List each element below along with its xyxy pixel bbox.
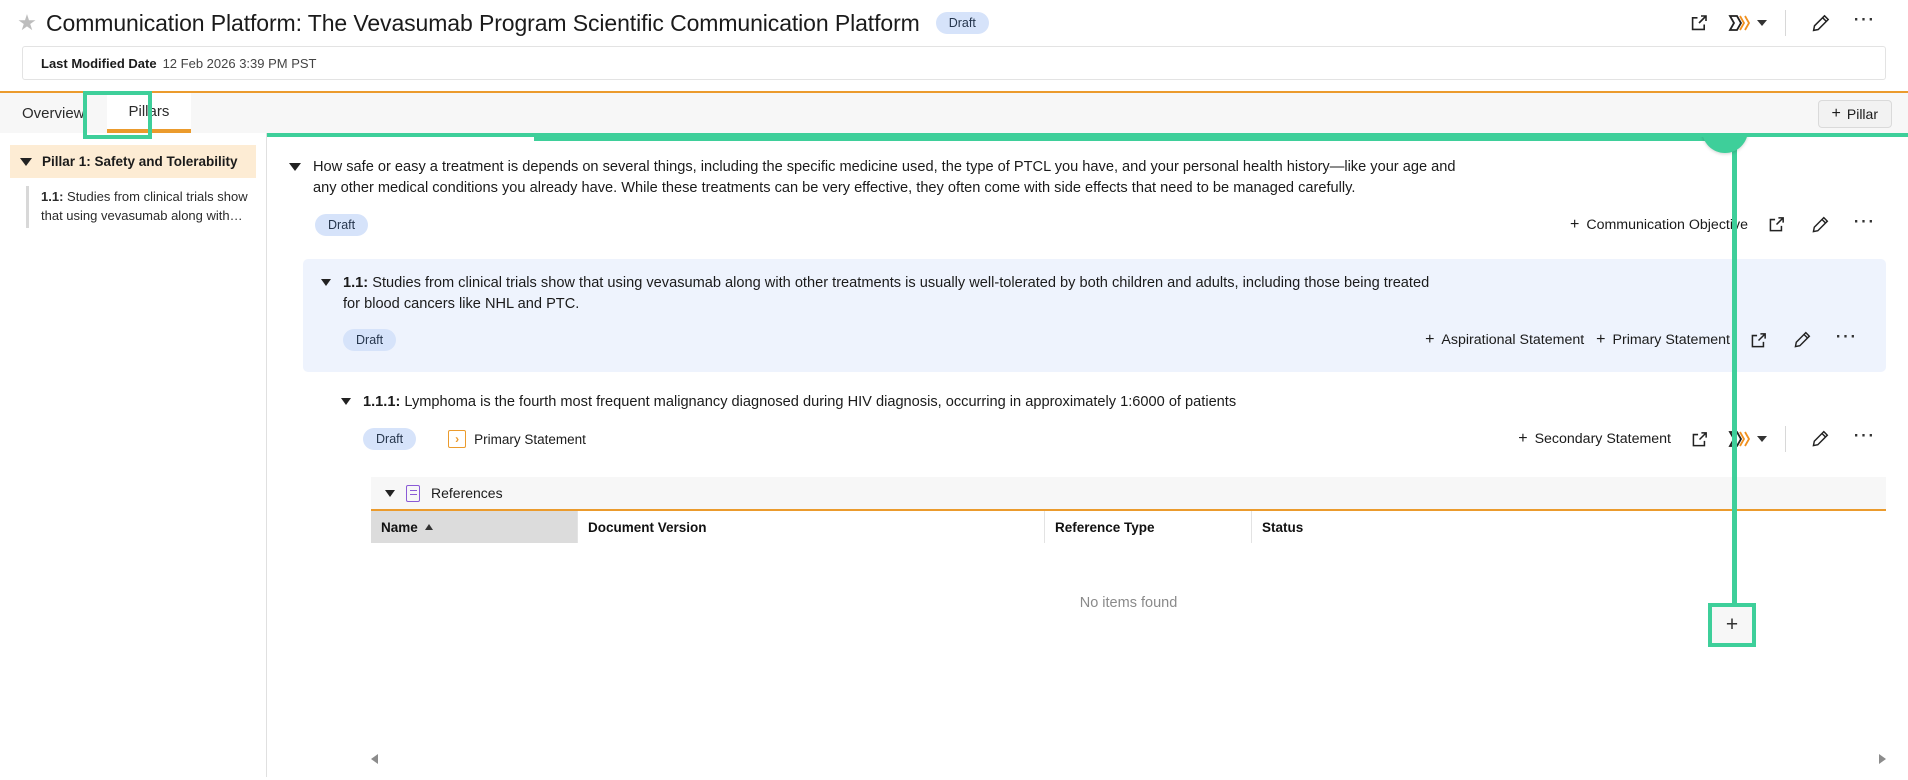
statement-1-1-status-badge: Draft xyxy=(343,329,396,351)
last-modified-label: Last Modified Date xyxy=(41,56,157,71)
statement-1-1-1-text-row: 1.1.1: Lymphoma is the fourth most frequ… xyxy=(341,386,1886,413)
column-header-document-version[interactable]: Document Version xyxy=(578,511,1045,543)
statement-1-1-number: 1.1: xyxy=(343,275,368,291)
header-actions: ⋯ xyxy=(1677,3,1886,43)
external-link-icon[interactable] xyxy=(1754,205,1798,245)
pillars-sidebar: Pillar 1: Safety and Tolerability 1.1: S… xyxy=(0,133,267,777)
chevron-down-icon[interactable] xyxy=(289,163,301,171)
pencil-icon[interactable] xyxy=(1798,205,1842,245)
primary-statement-type-badge[interactable]: › Primary Statement xyxy=(448,430,586,448)
scroll-left-icon[interactable] xyxy=(371,754,378,764)
pillars-main-content: How safe or easy a treatment is depends … xyxy=(267,133,1908,777)
primary-statement-type-label: Primary Statement xyxy=(474,432,586,447)
chevron-down-icon[interactable] xyxy=(1757,20,1767,26)
add-pillar-button[interactable]: + Pillar xyxy=(1818,100,1892,128)
tab-overview[interactable]: Overview xyxy=(0,93,107,133)
column-header-status[interactable]: Status xyxy=(1252,511,1886,543)
statement-1-1-1-actions: Draft › Primary Statement + Secondary St… xyxy=(341,419,1886,459)
statement-1-1-1-status-group: Draft › Primary Statement xyxy=(341,428,586,450)
scroll-right-icon[interactable] xyxy=(1879,754,1886,764)
statement-1-1-action-buttons: + Aspirational Statement + Primary State… xyxy=(1419,320,1868,360)
add-secondary-statement-button[interactable]: + Secondary Statement xyxy=(1512,428,1677,450)
divider xyxy=(1785,426,1786,452)
sidebar-sub-text: Studies from clinical trials show that u… xyxy=(41,189,248,223)
statement-1-1-text: 1.1: Studies from clinical trials show t… xyxy=(343,273,1448,315)
objective-text-row: How safe or easy a treatment is depends … xyxy=(289,151,1908,199)
external-link-icon[interactable] xyxy=(1677,3,1721,43)
star-icon[interactable]: ★ xyxy=(14,10,40,36)
sort-ascending-icon xyxy=(425,524,433,530)
divider xyxy=(1785,10,1786,36)
column-header-status-label: Status xyxy=(1262,520,1303,535)
add-communication-objective-label: Communication Objective xyxy=(1586,217,1748,233)
objective-actions: Draft + Communication Objective xyxy=(289,205,1908,245)
statement-1-1-node: 1.1: Studies from clinical trials show t… xyxy=(303,259,1886,373)
add-primary-statement-label: Primary Statement xyxy=(1613,332,1730,348)
status-badge: Draft xyxy=(936,12,989,34)
column-header-reference-type[interactable]: Reference Type xyxy=(1045,511,1252,543)
pencil-icon[interactable] xyxy=(1798,3,1842,43)
body-area: Pillar 1: Safety and Tolerability 1.1: S… xyxy=(0,133,1908,777)
add-secondary-statement-label: Secondary Statement xyxy=(1535,431,1671,447)
statement-1-1-1-action-buttons: + Secondary Statement xyxy=(1512,419,1886,459)
last-modified-value: 12 Feb 2026 3:39 PM PST xyxy=(163,56,317,71)
statement-1-1-1-node: 1.1.1: Lymphoma is the fourth most frequ… xyxy=(341,386,1886,459)
workflow-icon[interactable] xyxy=(1721,419,1773,459)
column-header-reference-type-label: Reference Type xyxy=(1055,520,1155,535)
scroll-track[interactable] xyxy=(382,753,1875,764)
ellipsis-icon[interactable]: ⋯ xyxy=(1842,419,1886,459)
references-section: References Name Document Version Referen… xyxy=(371,477,1886,611)
pencil-icon[interactable] xyxy=(1798,419,1842,459)
external-link-icon[interactable] xyxy=(1677,419,1721,459)
tab-bar: Overview Pillars + Pillar xyxy=(0,91,1908,133)
plus-icon: + xyxy=(1518,431,1527,447)
statement-1-1-body: Studies from clinical trials show that u… xyxy=(343,275,1429,312)
sidebar-item-pillar-1[interactable]: Pillar 1: Safety and Tolerability xyxy=(10,145,256,178)
meta-bar-wrap: Last Modified Date 12 Feb 2026 3:39 PM P… xyxy=(0,46,1908,80)
external-link-icon[interactable] xyxy=(1736,320,1780,360)
add-aspirational-statement-label: Aspirational Statement xyxy=(1441,332,1584,348)
statement-1-1-1-body: Lymphoma is the fourth most frequent mal… xyxy=(400,394,1236,410)
chevron-down-icon[interactable] xyxy=(20,158,32,166)
chevron-down-icon[interactable] xyxy=(1757,436,1767,442)
annotation-vertical-line xyxy=(1732,137,1737,621)
statement-1-1-1-status-badge: Draft xyxy=(363,428,416,450)
statement-1-1-status-group: Draft xyxy=(321,329,396,351)
references-header[interactable]: References xyxy=(371,477,1886,509)
document-icon xyxy=(406,485,420,502)
plus-icon: + xyxy=(1832,106,1841,122)
plus-icon: + xyxy=(1570,217,1579,233)
add-aspirational-statement-button[interactable]: + Aspirational Statement xyxy=(1419,329,1590,351)
ellipsis-icon[interactable]: ⋯ xyxy=(1842,3,1886,43)
statement-1-1-1-text: 1.1.1: Lymphoma is the fourth most frequ… xyxy=(363,392,1236,413)
objective-text: How safe or easy a treatment is depends … xyxy=(313,157,1468,199)
references-label: References xyxy=(431,485,503,501)
add-communication-objective-button[interactable]: + Communication Objective xyxy=(1564,214,1754,236)
statement-1-1-text-row: 1.1: Studies from clinical trials show t… xyxy=(321,267,1868,315)
sidebar-item-1-1[interactable]: 1.1: Studies from clinical trials show t… xyxy=(26,186,256,228)
chevron-down-icon[interactable] xyxy=(385,490,395,497)
workflow-icon[interactable] xyxy=(1721,3,1773,43)
annotation-horizontal-line xyxy=(534,137,1729,141)
last-modified-bar: Last Modified Date 12 Feb 2026 3:39 PM P… xyxy=(22,46,1886,80)
chevron-down-icon[interactable] xyxy=(321,279,331,286)
statement-1-1-actions: Draft + Aspirational Statement + Primary… xyxy=(321,320,1868,360)
ellipsis-icon[interactable]: ⋯ xyxy=(1824,320,1868,360)
column-header-name-label: Name xyxy=(381,520,418,535)
sidebar-pillar-label: Pillar 1: Safety and Tolerability xyxy=(42,154,238,169)
references-empty-message: No items found xyxy=(371,543,1886,611)
objective-action-buttons: + Communication Objective xyxy=(1564,205,1886,245)
plus-icon: + xyxy=(1425,332,1434,348)
chevron-right-icon: › xyxy=(448,430,466,448)
add-primary-statement-button[interactable]: + Primary Statement xyxy=(1590,329,1736,351)
tab-pillars[interactable]: Pillars xyxy=(107,93,192,133)
plus-icon: + xyxy=(1596,332,1605,348)
references-table-header: Name Document Version Reference Type Sta… xyxy=(371,509,1886,543)
statement-1-1-1-number: 1.1.1: xyxy=(363,394,400,410)
column-header-document-version-label: Document Version xyxy=(588,520,707,535)
chevron-down-icon[interactable] xyxy=(341,398,351,405)
communication-objective-node: How safe or easy a treatment is depends … xyxy=(267,151,1908,245)
objective-status-badge: Draft xyxy=(315,214,368,236)
horizontal-scrollbar[interactable] xyxy=(371,752,1886,765)
sidebar-sub-number: 1.1: xyxy=(41,189,63,204)
page-title: Communication Platform: The Vevasumab Pr… xyxy=(46,10,920,37)
annotation-step-badge: 3 xyxy=(1702,133,1748,153)
column-header-name[interactable]: Name xyxy=(371,511,578,543)
add-reference-button[interactable]: + xyxy=(1708,603,1756,647)
add-pillar-label: Pillar xyxy=(1847,106,1878,122)
pencil-icon[interactable] xyxy=(1780,320,1824,360)
app-header: ★ Communication Platform: The Vevasumab … xyxy=(0,0,1908,46)
objective-status-group: Draft xyxy=(289,214,368,236)
ellipsis-icon[interactable]: ⋯ xyxy=(1842,205,1886,245)
